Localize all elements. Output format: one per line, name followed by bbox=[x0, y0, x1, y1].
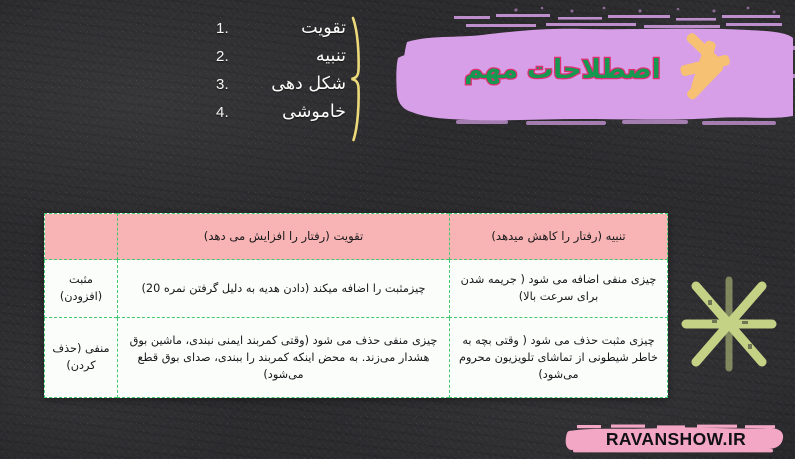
watermark: RAVANSHOW.IR bbox=[565, 424, 787, 455]
list-item-label: تقویت bbox=[301, 18, 346, 38]
table-header-row: تنبیه (رفتار را کاهش میدهد) تقویت (رفتار… bbox=[45, 214, 668, 260]
table-body: چیزی منفی اضافه می شود ( جریمه شدن برای … bbox=[45, 260, 668, 398]
list-item-number: 4. bbox=[216, 104, 229, 121]
cell-reinforcement-negative: چیزی منفی حذف می شود (وقتی کمربند ایمنی … bbox=[118, 317, 450, 397]
list-item: شکل دهی 3. bbox=[216, 74, 346, 102]
reinforcement-punishment-table: تنبیه (رفتار را کاهش میدهد) تقویت (رفتار… bbox=[44, 213, 668, 398]
cell-reinforcement-positive: چیزمثبت را اضافه میکند (دادن هدیه به دلی… bbox=[118, 260, 450, 318]
list-item-label: شکل دهی bbox=[271, 74, 346, 94]
curly-brace-icon bbox=[348, 16, 374, 142]
slide-canvas: تقویت 1. تنبیه 2. شکل دهی 3. خاموشی 4. bbox=[0, 0, 795, 459]
cell-punishment-positive: چیزی منفی اضافه می شود ( جریمه شدن برای … bbox=[450, 260, 668, 318]
column-header-reinforcement: تقویت (رفتار را افزایش می دهد) bbox=[118, 214, 450, 260]
table-row: چیزی مثبت حذف می شود ( وقتی بچه به خاطر … bbox=[45, 317, 668, 397]
column-header-valence bbox=[45, 214, 118, 260]
table-header: تنبیه (رفتار را کاهش میدهد) تقویت (رفتار… bbox=[45, 214, 668, 260]
page-title: اصطلاحات مهم bbox=[464, 55, 660, 85]
row-header-negative: منفی (حذف کردن) bbox=[45, 317, 118, 397]
row-header-positive: مثبت (افزودن) bbox=[45, 260, 118, 318]
list-item-label: تنبیه bbox=[316, 46, 346, 66]
terms-list: تقویت 1. تنبیه 2. شکل دهی 3. خاموشی 4. bbox=[216, 18, 346, 130]
list-item: خاموشی 4. bbox=[216, 102, 346, 130]
title-banner: اصطلاحات مهم bbox=[396, 2, 795, 138]
list-item-label: خاموشی bbox=[282, 102, 346, 122]
list-item: تقویت 1. bbox=[216, 18, 346, 46]
watermark-text: RAVANSHOW.IR bbox=[565, 424, 787, 455]
table-row: چیزی منفی اضافه می شود ( جریمه شدن برای … bbox=[45, 260, 668, 318]
asterisk-doodle-icon bbox=[668, 272, 790, 376]
title-text-wrapper: اصطلاحات مهم bbox=[396, 2, 795, 138]
list-item-number: 3. bbox=[216, 76, 229, 93]
list-item-number: 1. bbox=[216, 20, 229, 37]
column-header-punishment: تنبیه (رفتار را کاهش میدهد) bbox=[450, 214, 668, 260]
list-item-number: 2. bbox=[216, 48, 229, 65]
list-item: تنبیه 2. bbox=[216, 46, 346, 74]
cell-punishment-negative: چیزی مثبت حذف می شود ( وقتی بچه به خاطر … bbox=[450, 317, 668, 397]
